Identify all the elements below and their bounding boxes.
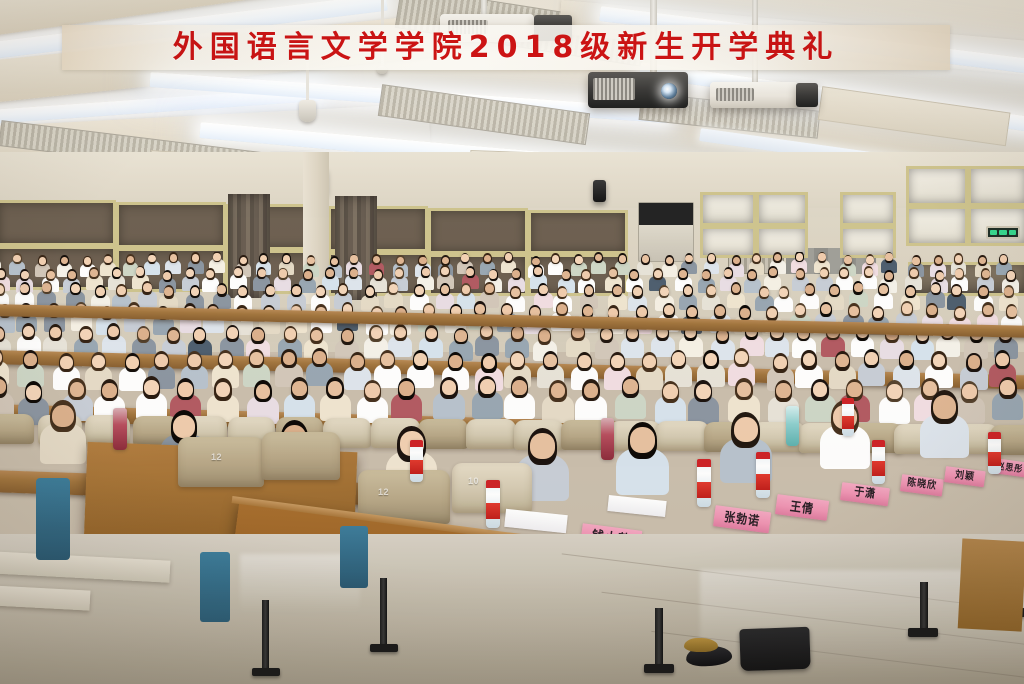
audience-member-head	[672, 352, 685, 365]
audience-member-head	[955, 308, 965, 318]
audience-member-head	[213, 253, 220, 261]
audience-member-head	[60, 356, 73, 369]
audience-member-head	[163, 272, 171, 280]
audience-member-head	[854, 283, 863, 292]
audience-member-head	[502, 305, 512, 315]
audience-member-head	[849, 306, 859, 316]
bottle-label	[872, 461, 885, 476]
audience-member-head	[601, 329, 612, 340]
name-card-text: 王倩	[789, 500, 814, 516]
audience-member-head	[544, 354, 557, 367]
bottle-label	[486, 503, 500, 519]
audience-member-head	[906, 287, 915, 296]
chair[interactable]	[262, 432, 340, 480]
audience-member-head	[194, 329, 205, 340]
audience-member-head	[910, 269, 918, 277]
banner-title-text: 外国语言文学学院2018级新生开学典礼	[173, 33, 840, 63]
audience-member-head	[1007, 271, 1015, 279]
audience-member-head	[50, 327, 61, 338]
name-card-text: 张勃诺	[723, 511, 760, 528]
audience-member-head	[707, 286, 716, 295]
audience-member-head	[530, 433, 555, 458]
audience-member-head	[684, 286, 693, 295]
chair-seat-12[interactable]	[178, 437, 264, 487]
audience-member-head	[90, 269, 98, 277]
audience-member-head	[613, 286, 622, 295]
audience-member	[40, 402, 86, 468]
audience-member-head	[996, 353, 1009, 366]
water-bottle	[410, 440, 423, 482]
audience-member-head	[702, 271, 710, 279]
audience-member-head	[258, 269, 266, 277]
wall-panel	[840, 192, 896, 226]
audience-member-head	[740, 308, 750, 318]
audience-member-head	[61, 257, 68, 265]
name-card-text: 于潇	[853, 487, 876, 501]
exit-sign	[986, 226, 1020, 239]
bottle-cap	[872, 440, 885, 447]
audience-member-head	[485, 284, 494, 293]
vacuum-flask	[601, 418, 614, 460]
exit-sign-cell	[1009, 230, 1016, 235]
audience-member-head	[20, 284, 29, 293]
audience-member	[688, 382, 719, 427]
audience-member-head	[21, 271, 29, 279]
audience-member-head	[279, 269, 287, 277]
audience-member-head	[381, 353, 394, 366]
desk-leg-foot	[370, 644, 398, 652]
backpack	[739, 627, 810, 671]
audience-member-head	[136, 267, 144, 275]
audience-member-head	[623, 379, 638, 394]
audience-member-head	[642, 255, 649, 263]
audience-member-head	[734, 417, 758, 442]
audience-member-head	[630, 427, 655, 452]
audience-member-head	[365, 383, 380, 398]
audience-member-head	[539, 285, 548, 294]
audience-member-head	[266, 286, 275, 295]
audience-member	[992, 378, 1023, 423]
desk-leg-foot	[644, 664, 674, 673]
chair[interactable]	[0, 414, 34, 444]
audience-member-head	[339, 285, 348, 294]
audience-member-head	[776, 383, 791, 398]
audience-member-head	[170, 254, 177, 262]
audience-member-head	[13, 255, 20, 263]
audience-member-head	[371, 327, 382, 338]
audience-member-head	[331, 258, 338, 266]
wall-panel	[528, 210, 628, 254]
audience-member-head	[71, 284, 80, 293]
audience-member-head	[326, 269, 334, 277]
audience-member-head	[968, 355, 981, 368]
audience-member-head	[26, 385, 41, 400]
audience-member-head	[342, 330, 353, 341]
audience-member-head	[584, 383, 599, 398]
audience-member-head	[1007, 306, 1017, 316]
seat-number-label: 12	[378, 487, 389, 497]
audience-member-head	[144, 380, 159, 395]
audience-member-head	[70, 382, 85, 397]
audience-member-head	[619, 255, 626, 263]
audience-member-head	[328, 381, 343, 396]
audience-member-head	[936, 272, 944, 280]
audience-member-head	[292, 286, 301, 295]
audience-member-head	[760, 288, 769, 297]
wall-panel	[906, 166, 968, 206]
audience-member-head	[873, 308, 883, 318]
audience-member-head	[630, 271, 638, 279]
audience-member-head	[23, 326, 34, 337]
bottle-label	[842, 416, 854, 429]
audience-member-head	[148, 255, 155, 263]
audience-member-head	[216, 382, 231, 397]
bottle-label	[988, 452, 1001, 466]
bottle-cap	[486, 480, 500, 488]
chair[interactable]	[466, 419, 516, 449]
audience-member-head	[558, 288, 567, 297]
audience-member-head	[256, 384, 271, 399]
seat-number-label: 12	[211, 452, 222, 462]
audience-member-head	[511, 288, 520, 297]
audience-member-head	[304, 271, 312, 279]
left-side-panel	[340, 526, 368, 588]
audience-member-head	[188, 354, 201, 367]
audience-member-head	[173, 415, 195, 438]
audience-member-head	[769, 268, 777, 276]
audience-member-head	[633, 287, 642, 296]
audience-member	[616, 424, 669, 500]
audience-member-head	[252, 329, 263, 340]
audience-member-head	[583, 306, 593, 316]
audience-member-head	[102, 383, 117, 398]
exit-sign-cell	[999, 230, 1006, 235]
audience-member-head	[654, 270, 662, 278]
left-side-panel	[200, 552, 230, 622]
audience-member-head	[292, 381, 307, 396]
audience-member-head	[865, 352, 878, 365]
audience-member-head	[455, 330, 466, 341]
audience-member-head	[227, 327, 238, 338]
audience-member-head	[512, 327, 523, 338]
audience-member-head	[480, 379, 495, 394]
audience-member-head	[351, 355, 364, 368]
bottle-cap	[988, 432, 1001, 439]
audience-member-head	[708, 254, 715, 262]
audience-member-head	[585, 286, 594, 295]
ceiling-tile	[818, 86, 1011, 146]
audience-member-head	[796, 253, 803, 261]
audience-member-head	[735, 351, 748, 364]
audience-member-head	[595, 254, 602, 262]
audience-member-head	[307, 257, 314, 265]
bottle-cap	[842, 398, 854, 404]
desk-leg-foot	[252, 668, 280, 676]
audience-member-head	[138, 328, 149, 339]
wall-panel	[116, 202, 226, 248]
audience-member-head	[805, 285, 814, 294]
audience-member-head	[912, 257, 919, 265]
bottle-cap	[410, 440, 423, 447]
audience-member-head	[737, 382, 752, 397]
audience-member-head	[475, 304, 485, 314]
shoe	[684, 638, 718, 652]
audience-member-head	[983, 305, 993, 315]
wall-speaker	[593, 180, 606, 202]
audience-member-head	[664, 305, 674, 315]
audience-member-head	[283, 255, 290, 263]
audience-member-head	[821, 304, 831, 314]
audience-member-head	[512, 380, 527, 395]
audience-member-head	[415, 286, 424, 295]
projector-vent	[716, 88, 754, 101]
audience-member-head	[696, 384, 711, 399]
bottle-label	[410, 460, 423, 474]
audience-member-head	[955, 269, 963, 277]
audience-member-head	[685, 255, 692, 263]
audience-member-head	[885, 272, 893, 280]
audience-member-head	[39, 257, 46, 265]
audience-member-head	[191, 287, 200, 296]
audience-member-head	[902, 303, 912, 313]
audience-member-head	[557, 304, 567, 314]
audience-member-head	[818, 253, 825, 261]
audience-member-head	[866, 256, 873, 264]
audience-member-head	[250, 352, 263, 365]
audience-member-head	[1000, 380, 1015, 395]
bottle-cap	[697, 459, 711, 467]
audience-member-head	[933, 354, 946, 367]
audience-member-head	[715, 306, 725, 316]
desk-leg-foot	[908, 628, 938, 637]
vacuum-flask	[113, 408, 127, 450]
audience-member-head	[900, 353, 913, 366]
name-card-text: 陈晓欣	[906, 478, 937, 492]
audience-member-head	[47, 271, 55, 279]
audience-member-head	[578, 355, 591, 368]
audience-member-head	[313, 351, 326, 364]
audience-member-head	[955, 255, 962, 263]
bottle-cap	[756, 452, 770, 459]
audience-member-head	[117, 286, 126, 295]
audience-member-head	[414, 353, 427, 366]
audience-member-head	[92, 355, 105, 368]
audience-member-head	[679, 270, 687, 278]
water-bottle	[872, 440, 885, 484]
ac-unit-top-grille	[639, 203, 693, 225]
floor	[0, 534, 1024, 684]
audience-member-head	[840, 269, 848, 277]
vacuum-flask	[786, 406, 799, 446]
audience-member-head	[539, 330, 550, 341]
desk-leg	[920, 582, 928, 634]
audience-member-head	[643, 355, 656, 368]
audience-member-head	[952, 286, 961, 295]
audience-member-head	[575, 256, 582, 264]
wall-panel	[700, 192, 756, 226]
audience-member-head	[481, 326, 492, 337]
audience-member	[433, 378, 464, 423]
audience-member-head	[311, 330, 322, 341]
audience-member-head	[143, 283, 152, 292]
water-bottle	[842, 398, 854, 436]
water-bottle	[486, 480, 500, 528]
audience-member-head	[466, 268, 474, 276]
audience-member-head	[982, 270, 990, 278]
wall-panel	[428, 208, 528, 254]
wall-panel	[906, 206, 968, 246]
left-side-panel	[36, 478, 70, 560]
audience-member-head	[155, 354, 168, 367]
audience-member-head	[830, 286, 839, 295]
audience-member-head	[389, 284, 398, 293]
desk-leg	[262, 600, 269, 672]
bottle-label	[697, 482, 711, 498]
right-side-desk	[958, 538, 1024, 631]
audience-member-head	[813, 382, 828, 397]
audience-member-head	[395, 327, 406, 338]
event-title-banner: 外国语言文学学院2018级新生开学典礼	[62, 25, 950, 70]
audience-member-head	[422, 268, 430, 276]
desk-leg	[380, 578, 387, 648]
water-bottle	[756, 452, 770, 498]
audience-member-head	[796, 270, 804, 278]
audience-member-head	[844, 256, 851, 264]
audience-member-head	[113, 269, 121, 277]
audience-member-head	[24, 353, 37, 366]
ceiling-sprinkler-sensor	[299, 100, 316, 122]
audience-member-head	[885, 253, 892, 261]
audience-member-head	[552, 255, 559, 263]
audience-member-head	[426, 328, 437, 339]
audience-member-head	[449, 355, 462, 368]
wall-panel	[0, 200, 116, 246]
projector-right-lens-housing	[796, 83, 818, 107]
audience-member-head	[350, 255, 357, 263]
water-bottle	[697, 459, 711, 507]
projector-lens	[661, 83, 677, 99]
audience-member-head	[126, 356, 139, 369]
audience-member-head	[238, 287, 247, 296]
audience-member-head	[660, 287, 669, 296]
audience-member-head	[419, 257, 426, 265]
audience-member-head	[505, 253, 512, 261]
water-bottle	[988, 432, 1001, 474]
bottle-label	[756, 474, 770, 490]
audience-member-head	[572, 327, 583, 338]
audience-member-head	[80, 329, 91, 340]
audience-member-head	[933, 395, 956, 419]
desk-leg	[655, 608, 663, 670]
audience-member-head	[399, 381, 414, 396]
audience-member-head	[663, 384, 678, 399]
audience-member-head	[887, 384, 902, 399]
audience-member-head	[178, 382, 193, 397]
photo-canvas: 12 12 10 杨晨刘溪钱小芳张勃诺王倩于潇陈晓欣刘颖赵思彤	[0, 0, 1024, 684]
audience-member-head	[489, 270, 497, 278]
audience-member-head	[779, 288, 788, 297]
audience-member-head	[879, 285, 888, 294]
audience-member-head	[687, 307, 697, 317]
audience-member-head	[192, 254, 199, 262]
audience-member-head	[705, 353, 718, 366]
exit-sign-cell	[990, 230, 997, 235]
audience-member-head	[847, 382, 862, 397]
audience-member	[920, 392, 969, 463]
audience-member-head	[733, 257, 740, 265]
name-card-text: 刘颖	[954, 470, 975, 483]
audience-member	[615, 377, 646, 422]
audience-member-head	[1004, 287, 1013, 296]
audience-member-head	[219, 353, 232, 366]
audience-member-head	[865, 268, 873, 276]
audience-member-head	[316, 287, 325, 296]
audience-member-head	[442, 380, 457, 395]
audience-member	[472, 377, 503, 422]
audience-member-head	[931, 284, 940, 293]
wall-panel	[756, 192, 808, 226]
audience-member-head	[442, 257, 449, 265]
audience-member-head	[52, 405, 74, 427]
audience-member-head	[927, 305, 937, 315]
audience-member-head	[611, 355, 624, 368]
audience-member	[879, 382, 910, 427]
audience-member-head	[551, 383, 566, 398]
wall-panel	[968, 166, 1024, 206]
projector-vent	[593, 78, 635, 100]
audience-member-head	[104, 256, 111, 264]
audience-member-head	[462, 285, 471, 294]
audience-member-head	[637, 307, 647, 317]
audience-member-head	[350, 269, 358, 277]
audience-member-head	[511, 353, 524, 366]
audience-member-head	[532, 258, 539, 266]
audience-member-head	[461, 254, 468, 262]
audience-member	[504, 377, 535, 422]
audience-member-head	[68, 271, 76, 279]
audience-member-head	[96, 287, 105, 296]
seat-number-label: 10	[468, 476, 479, 486]
audience-member-head	[582, 271, 590, 279]
audience-member-head	[285, 328, 296, 339]
